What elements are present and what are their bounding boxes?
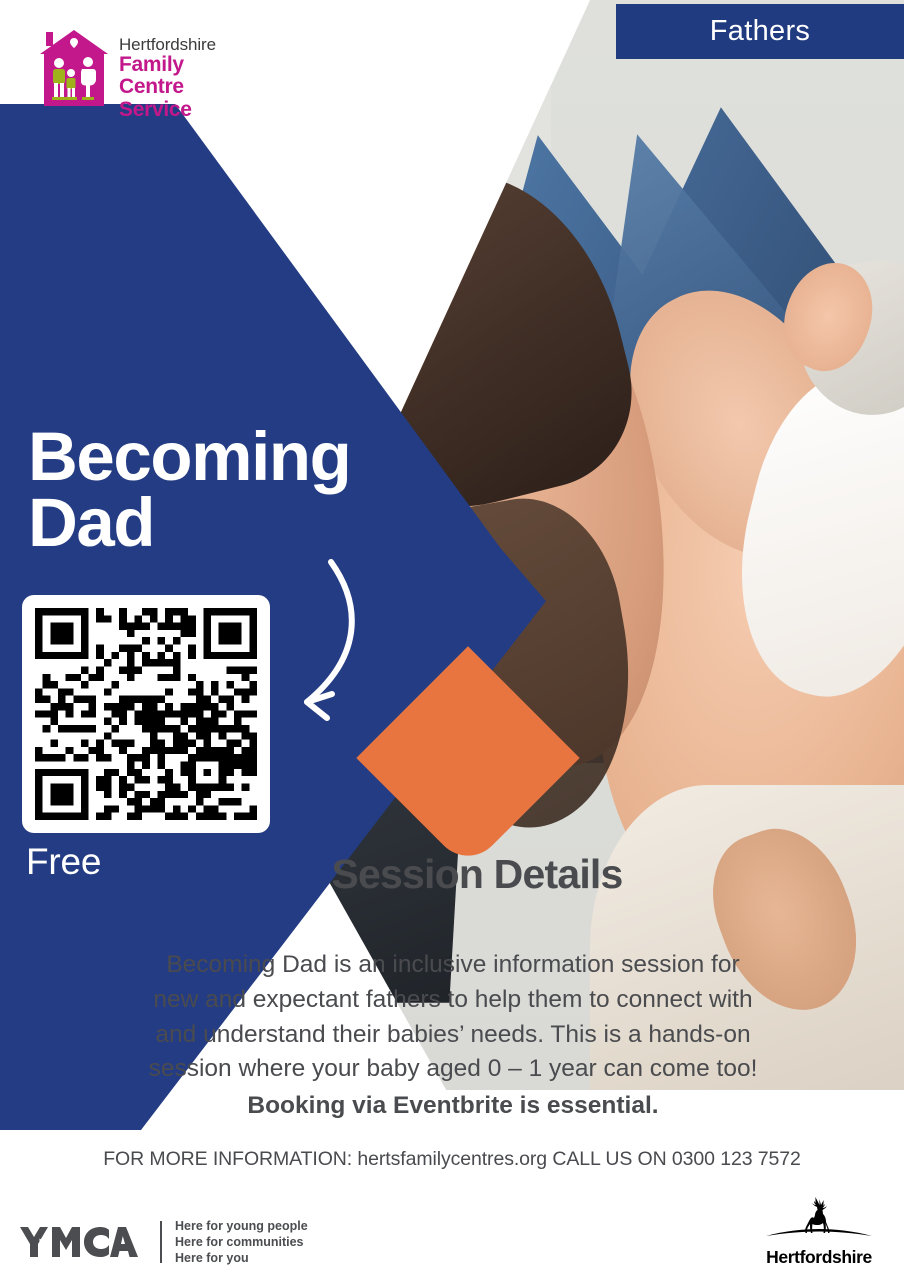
- poster-title: Becoming Dad: [28, 424, 408, 556]
- ymca-divider: [160, 1221, 162, 1263]
- council-wordmark: Hertfordshire: [754, 1247, 884, 1268]
- ymca-tagline: Here for young people Here for communiti…: [175, 1218, 308, 1266]
- ymca-tagline-2: Here for communities: [175, 1234, 308, 1250]
- title-line-2: Dad: [28, 490, 408, 556]
- logo-line-hertfordshire: Hertfordshire: [119, 36, 253, 54]
- curved-arrow-icon: [275, 552, 395, 727]
- session-details-body: Becoming Dad is an inclusive information…: [148, 948, 758, 1124]
- poster: Fathers: [0, 0, 904, 1280]
- logo-line-service: Service: [119, 99, 253, 121]
- ymca-wordmark-icon: [18, 1223, 146, 1261]
- stag-icon: [754, 1196, 884, 1248]
- session-body-text: Becoming Dad is an inclusive information…: [149, 951, 758, 1082]
- ymca-tagline-1: Here for young people: [175, 1218, 308, 1234]
- title-line-1: Becoming: [28, 424, 408, 490]
- fathers-banner: Fathers: [616, 4, 904, 59]
- ymca-tagline-3: Here for you: [175, 1250, 308, 1266]
- house-family-icon: [38, 28, 110, 108]
- booking-note: Booking via Eventbrite is essential.: [148, 1089, 758, 1124]
- qr-code-card[interactable]: [22, 595, 270, 833]
- ymca-logo: Here for young people Here for communiti…: [18, 1214, 308, 1270]
- logo-line-family-centre: Family Centre: [119, 54, 253, 99]
- contact-information: FOR MORE INFORMATION: hertsfamilycentres…: [0, 1148, 904, 1171]
- session-details-heading: Session Details: [0, 851, 904, 898]
- qr-code-image[interactable]: [35, 608, 257, 820]
- fathers-banner-label: Fathers: [710, 15, 810, 48]
- hertfordshire-council-logo: Hertfordshire: [754, 1196, 884, 1272]
- family-centre-service-logo: Hertfordshire Family Centre Service: [38, 28, 253, 116]
